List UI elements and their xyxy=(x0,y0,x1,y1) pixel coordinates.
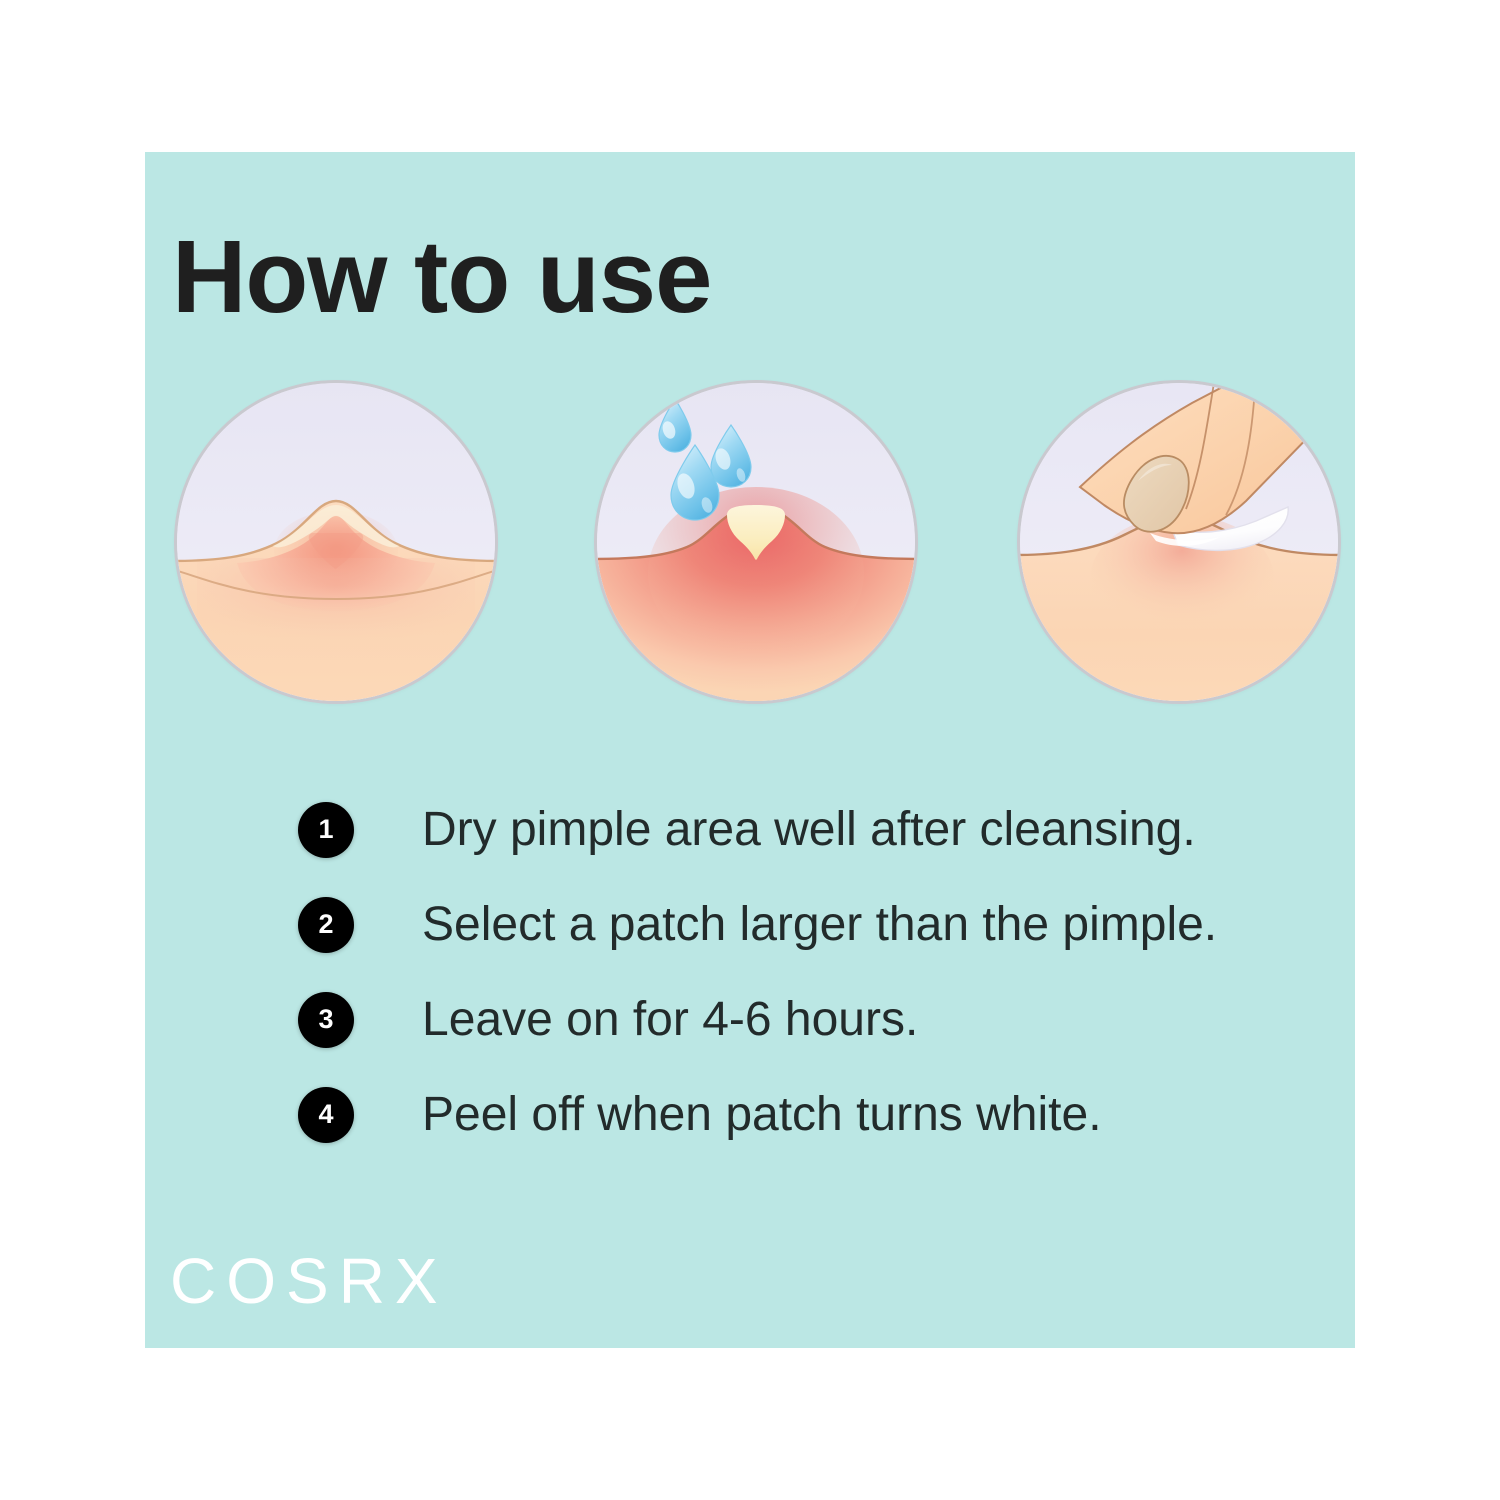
illustration-finger-applying-patch xyxy=(1020,383,1338,701)
illustration-row xyxy=(145,383,1355,713)
illustration-pimple-with-water-droplets xyxy=(597,383,915,701)
step-number-badge: 1 xyxy=(298,802,354,858)
brand-logo-cosrx: COSRX xyxy=(170,1249,448,1313)
step-number-badge: 4 xyxy=(298,1087,354,1143)
list-item: 4 Peel off when patch turns white. xyxy=(145,1067,1355,1162)
step-text: Dry pimple area well after cleansing. xyxy=(422,802,1196,857)
step-number-badge: 3 xyxy=(298,992,354,1048)
step-number-badge: 2 xyxy=(298,897,354,953)
illustration-skin-cross-section-with-pimple xyxy=(177,383,495,701)
screenshot-root: How to use xyxy=(0,0,1500,1500)
page-title: How to use xyxy=(172,213,711,342)
step-text: Peel off when patch turns white. xyxy=(422,1087,1102,1142)
step-text: Select a patch larger than the pimple. xyxy=(422,897,1217,952)
list-item: 2 Select a patch larger than the pimple. xyxy=(145,877,1355,972)
list-item: 3 Leave on for 4-6 hours. xyxy=(145,972,1355,1067)
how-to-use-panel: How to use xyxy=(145,152,1355,1348)
step-text: Leave on for 4-6 hours. xyxy=(422,992,918,1047)
steps-list: 1 Dry pimple area well after cleansing. … xyxy=(145,782,1355,1162)
list-item: 1 Dry pimple area well after cleansing. xyxy=(145,782,1355,877)
